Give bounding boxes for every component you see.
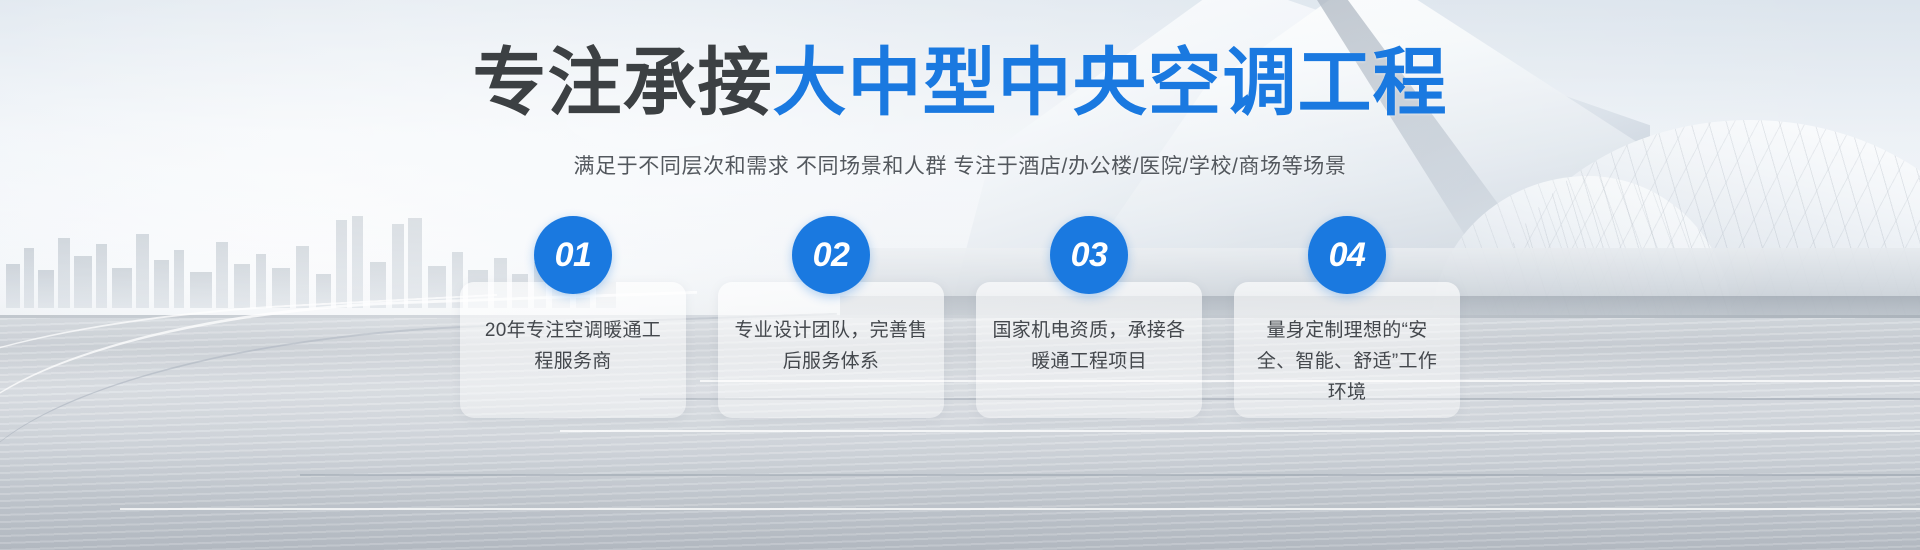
feature-card-text: 国家机电资质，承接各暖通工程项目 (992, 316, 1186, 378)
feature-number-badge: 02 (792, 216, 870, 294)
feature-number-badge: 04 (1308, 216, 1386, 294)
feature-card-text: 量身定制理想的“安全、智能、舒适”工作环境 (1250, 316, 1444, 408)
feature-number: 04 (1329, 236, 1366, 275)
feature-card[interactable]: 04 量身定制理想的“安全、智能、舒适”工作环境 (1234, 282, 1460, 418)
page-subtitle: 满足于不同层次和需求 不同场景和人群 专注于酒店/办公楼/医院/学校/商场等场景 (0, 150, 1920, 180)
feature-card-text: 专业设计团队，完善售后服务体系 (734, 316, 928, 378)
headline-blue-segment: 大中型中央空调工程 (773, 41, 1448, 124)
feature-card-text: 20年专注空调暖通工程服务商 (476, 316, 670, 378)
feature-card[interactable]: 03 国家机电资质，承接各暖通工程项目 (976, 282, 1202, 418)
page-title: 专注承接大中型中央空调工程 (0, 44, 1920, 122)
headline-dark-segment: 专注承接 (473, 41, 773, 124)
hero-banner: 专注承接大中型中央空调工程 满足于不同层次和需求 不同场景和人群 专注于酒店/办… (0, 0, 1920, 550)
feature-cards-row: 01 20年专注空调暖通工程服务商 02 专业设计团队，完善售后服务体系 03 … (460, 282, 1460, 422)
feature-number: 03 (1071, 236, 1108, 275)
feature-number-badge: 03 (1050, 216, 1128, 294)
feature-number: 01 (555, 236, 592, 275)
feature-card[interactable]: 01 20年专注空调暖通工程服务商 (460, 282, 686, 418)
feature-card[interactable]: 02 专业设计团队，完善售后服务体系 (718, 282, 944, 418)
feature-number-badge: 01 (534, 216, 612, 294)
feature-number: 02 (813, 236, 850, 275)
